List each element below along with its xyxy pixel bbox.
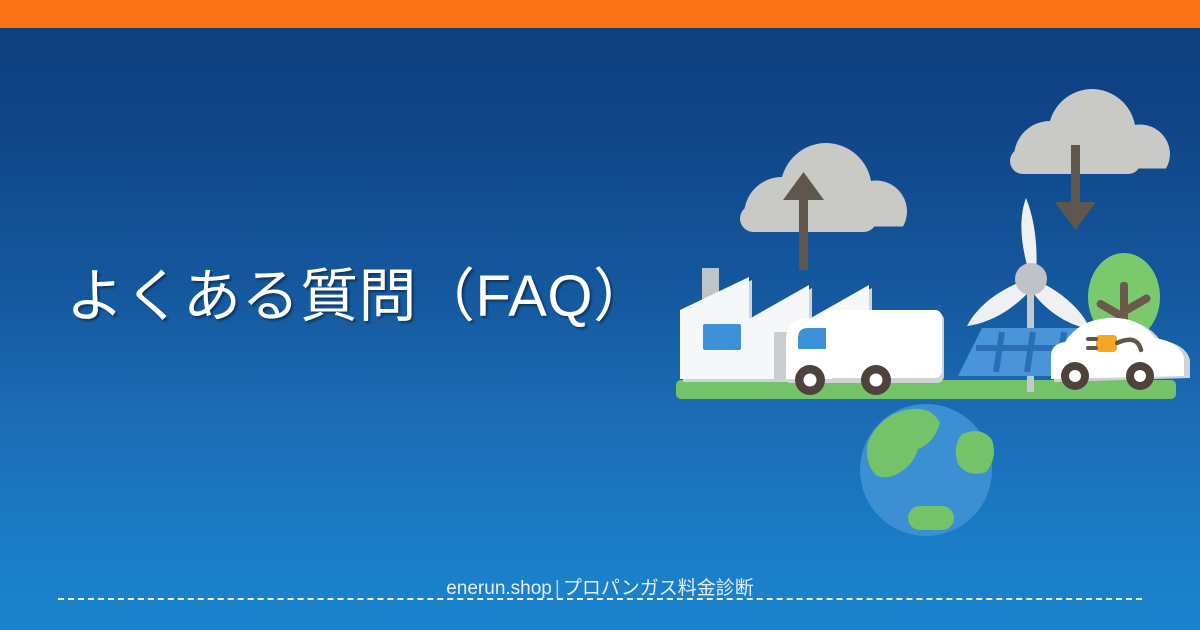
footer-site: enerun.shop: [446, 578, 552, 599]
delivery-truck-icon: [786, 310, 944, 395]
globe-icon: [860, 404, 994, 536]
page-title: よくある質問（FAQ）: [66, 262, 652, 332]
slide-canvas: よくある質問（FAQ）: [0, 0, 1200, 630]
eco-energy-illustration: [640, 70, 1200, 550]
footer-tagline: プロパンガス料金診断: [563, 578, 754, 599]
cloud-emission-up-icon: [740, 143, 907, 232]
footer-separator: |: [552, 578, 563, 599]
footer-credit: enerun.shop|プロパンガス料金診断: [0, 573, 1200, 600]
cloud-absorption-down-icon: [1010, 89, 1170, 174]
top-accent-bar: [0, 0, 1200, 28]
